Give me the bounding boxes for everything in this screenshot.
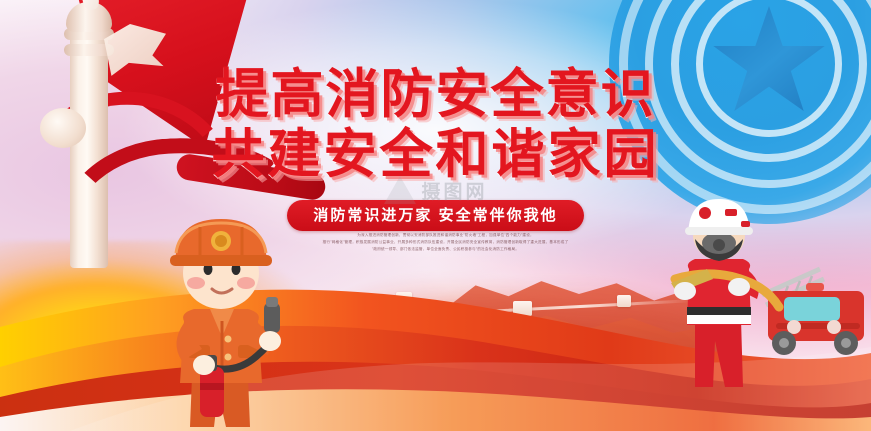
firefighter-belt	[687, 307, 751, 315]
boy-jacket-button	[225, 354, 232, 361]
helmet-brim	[685, 227, 753, 235]
boy-cheek	[237, 277, 255, 289]
firefighter-adult-svg	[655, 191, 785, 391]
extinguisher-label	[200, 383, 224, 390]
lotus-ornament	[40, 108, 86, 148]
hose-nozzle-icon	[264, 303, 280, 333]
firefighter-glove	[728, 278, 750, 296]
firefighter-boy-svg	[148, 217, 298, 429]
firefighter-adult-illustration	[655, 191, 785, 391]
boy-glove-right	[259, 331, 281, 351]
firefighter-boy-illustration	[148, 217, 298, 429]
helmet-stripe	[741, 221, 750, 227]
firefighter-belt-reflective	[687, 315, 751, 324]
firefighter-legs	[695, 319, 743, 387]
truck-headlight	[787, 320, 801, 334]
helmet-stripe	[725, 209, 737, 216]
helmet-emblem	[699, 207, 711, 219]
boy-jacket-button	[225, 336, 232, 343]
truck-windshield	[784, 297, 840, 321]
firefighter-glove	[674, 282, 696, 300]
truck-light-bar	[806, 283, 824, 291]
truck-headlight	[827, 320, 841, 334]
boy-glove-left	[193, 355, 215, 375]
helmet-brim	[170, 255, 272, 266]
boy-cheek	[187, 277, 205, 289]
fire-safety-poster: 提高消防安全意识 共建安全和谐家园 消防常识进万家 安全常伴你我他 为深入推进消…	[0, 0, 871, 431]
